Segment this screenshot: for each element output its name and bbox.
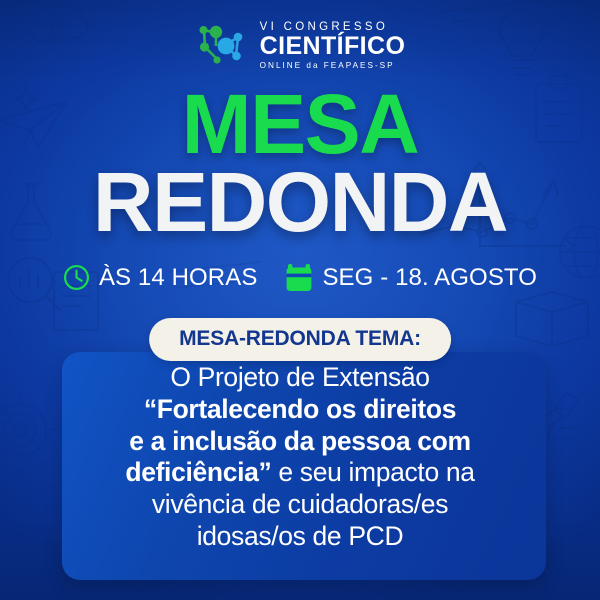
gear-icon: [549, 557, 599, 600]
clock-icon: [63, 264, 90, 291]
page-title: MESA REDONDA: [0, 88, 600, 238]
tema-text-regular: idosas/os de PCD: [197, 521, 404, 551]
tema-text-bold: “Fortalecendo os direitos: [144, 394, 456, 424]
tema-description-line: deficiência” e seu impacto na: [26, 457, 574, 489]
tema-badge-label: MESA-REDONDA TEMA:: [179, 327, 421, 350]
logo-line-online: ONLINE da FEAPAES-SP: [260, 62, 406, 70]
event-time: ÀS 14 HORAS: [63, 264, 258, 292]
book-icon: [516, 292, 588, 346]
poster-canvas: VI CONGRESSO CIENTÍFICO ONLINE da FEAPAE…: [0, 0, 600, 600]
tema-description-line: O Projeto de Extensão: [26, 362, 574, 394]
congress-logo: VI CONGRESSO CIENTÍFICO ONLINE da FEAPAE…: [0, 16, 600, 76]
decorative-line: [440, 0, 600, 12]
event-meta-row: ÀS 14 HORAS SEG - 18. AGOSTO: [0, 263, 600, 292]
tema-description-line: vivência de cuidadoras/es: [26, 489, 574, 521]
event-date-label: SEG - 18. AGOSTO: [322, 264, 537, 292]
tema-description: O Projeto de Extensão“Fortalecendo os di…: [0, 362, 600, 553]
event-time-label: ÀS 14 HORAS: [99, 264, 258, 292]
tema-description-line: e a inclusão da pessoa com: [26, 426, 574, 458]
tema-description-line: “Fortalecendo os direitos: [26, 394, 574, 426]
molecule-network-icon: [195, 21, 251, 71]
tema-text-regular: O Projeto de Extensão: [170, 362, 429, 392]
event-date: SEG - 18. AGOSTO: [285, 263, 537, 292]
tema-text-regular: vivência de cuidadoras/es: [152, 489, 448, 519]
headline-line-mesa: MESA: [0, 88, 600, 160]
logo-wordmark: VI CONGRESSO CIENTÍFICO ONLINE da FEAPAE…: [260, 22, 406, 70]
logo-line-cientifico: CIENTÍFICO: [260, 35, 406, 59]
headline-line-redonda: REDONDA: [0, 166, 600, 238]
tema-badge: MESA-REDONDA TEMA:: [149, 318, 451, 361]
calendar-icon: [285, 263, 313, 292]
tema-text-regular: e seu impacto na: [271, 457, 474, 487]
tema-text-bold: deficiência”: [125, 457, 271, 487]
tema-description-line: idosas/os de PCD: [26, 521, 574, 553]
tema-text-bold: e a inclusão da pessoa com: [129, 426, 470, 456]
